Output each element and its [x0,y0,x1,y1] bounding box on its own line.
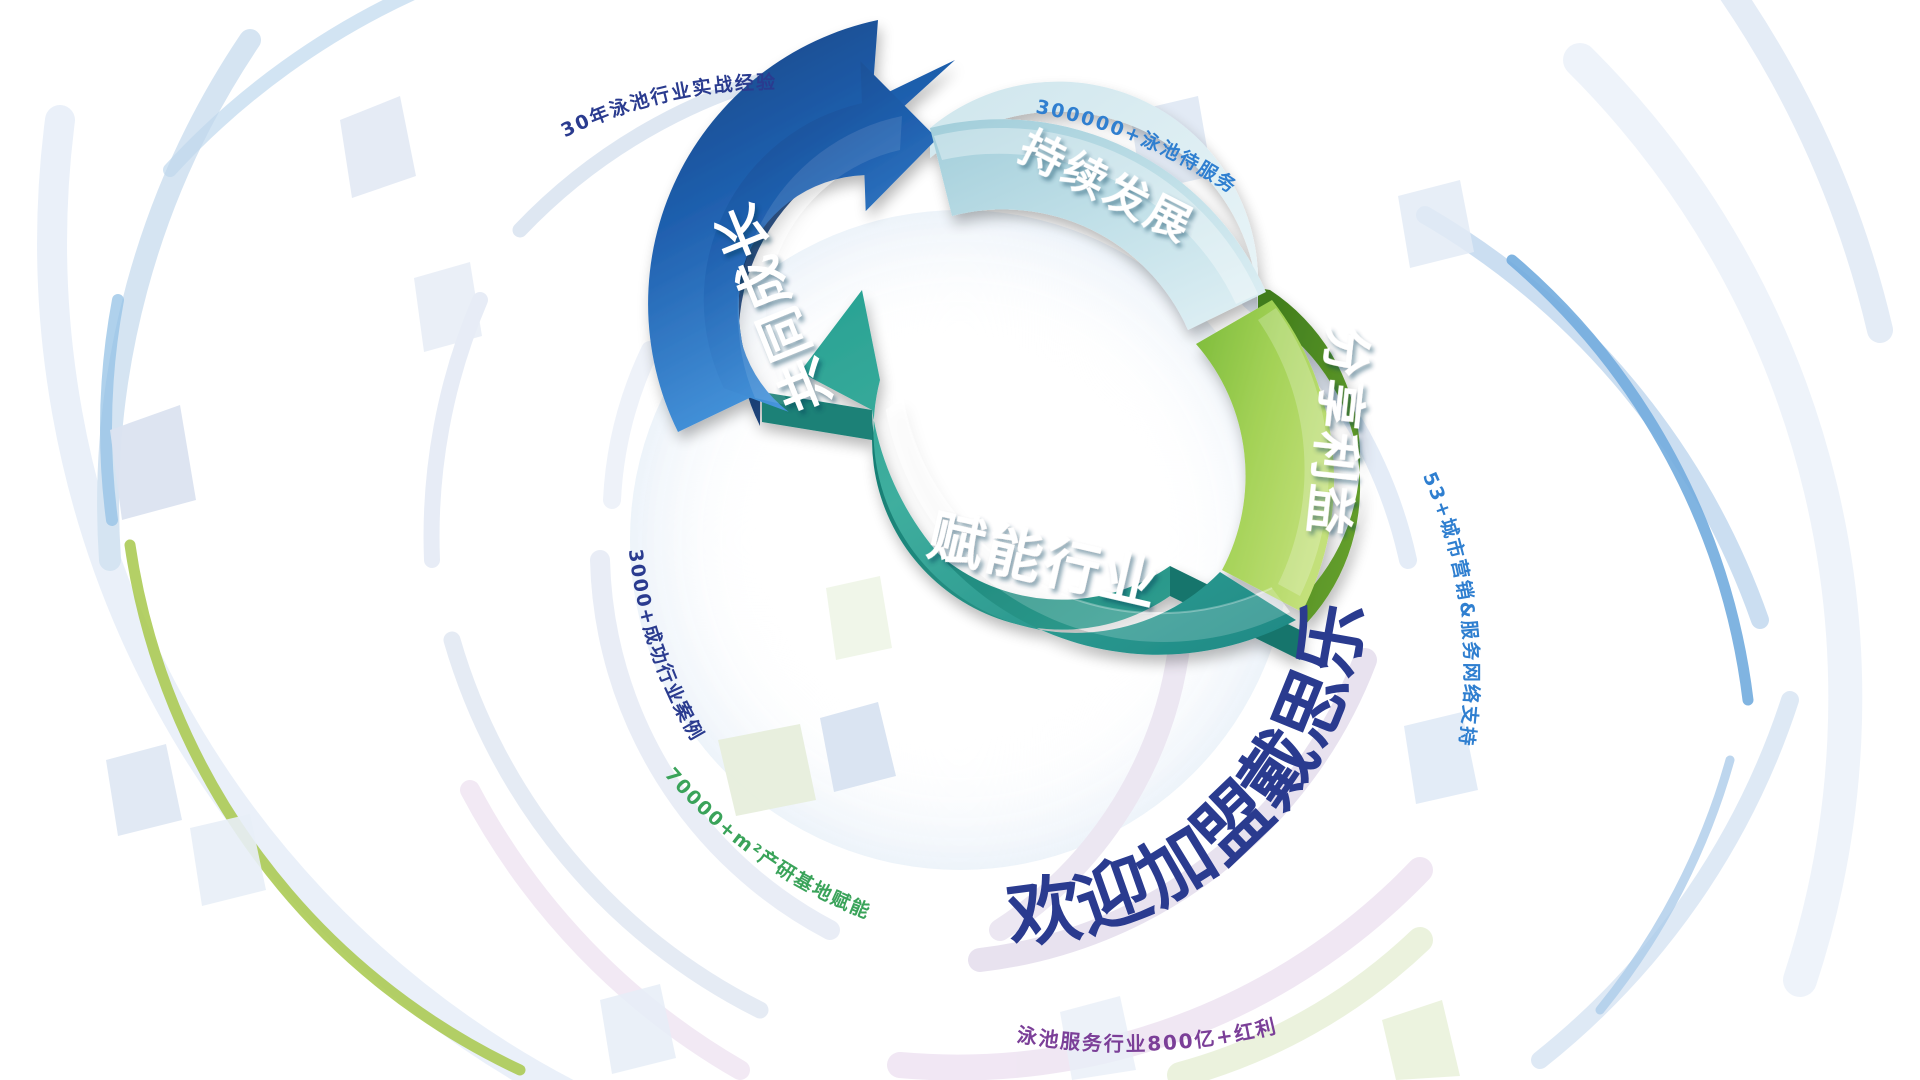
stat-cities: 53+城市营销&服务网络支持 [1418,469,1483,749]
poster-canvas: 共同成长 持续发展 分享利益 赋能行业 30年泳池行业实战经验 300000+泳… [0,0,1920,1080]
poster-artwork: 共同成长 持续发展 分享利益 赋能行业 30年泳池行业实战经验 300000+泳… [0,0,1920,1080]
